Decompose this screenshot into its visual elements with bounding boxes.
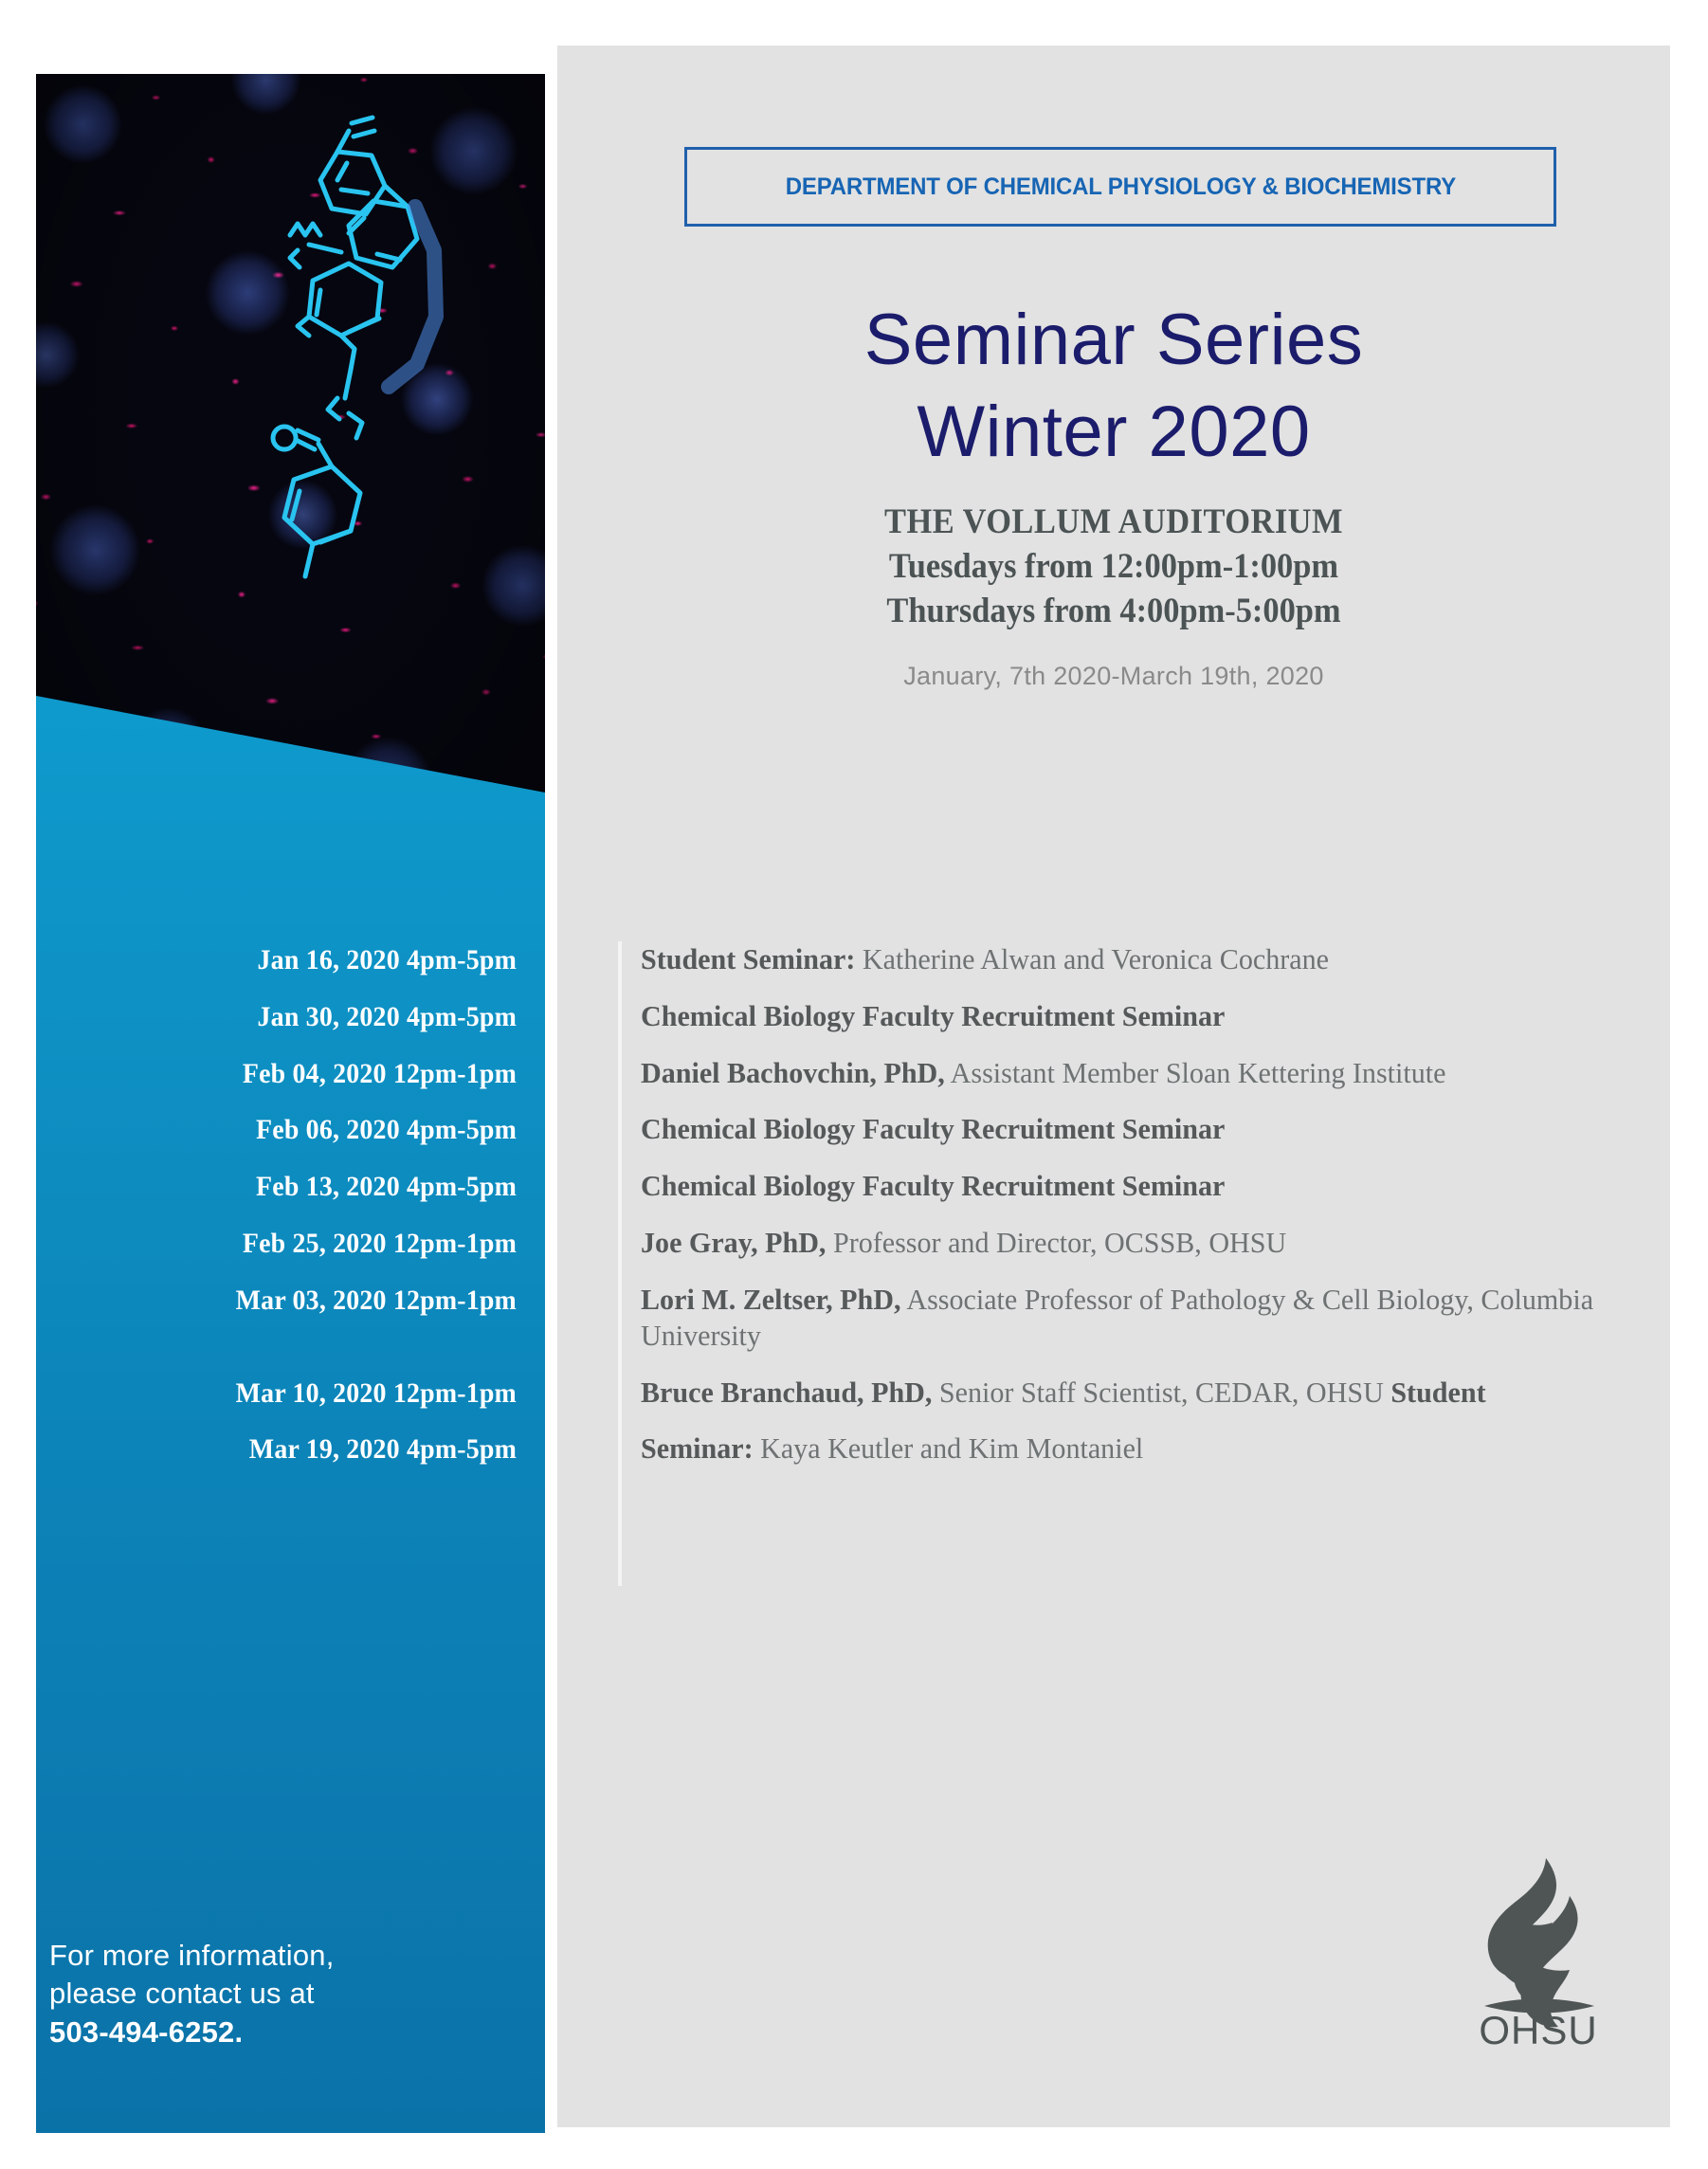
schedule-date: Feb 13, 2020 4pm-5pm bbox=[137, 1171, 517, 1203]
venue-time-thursdays: Thursdays from 4:00pm-5:00pm bbox=[596, 590, 1631, 634]
schedule-row: Student Seminar: Katherine Alwan and Ver… bbox=[557, 941, 1670, 977]
contact-line-1: For more information, bbox=[49, 1937, 485, 1975]
speaker-name: Student Seminar: bbox=[641, 942, 855, 975]
schedule-speaker: Student Seminar: Katherine Alwan and Ver… bbox=[641, 941, 1639, 977]
page-title: Seminar Series Winter 2020 bbox=[557, 294, 1670, 479]
schedule-speaker: Lori M. Zeltser, PhD, Associate Professo… bbox=[641, 1282, 1639, 1354]
speaker-name-tail: Student bbox=[1390, 1376, 1485, 1409]
speaker-name: Chemical Biology Faculty Recruitment Sem… bbox=[641, 1169, 1225, 1202]
schedule-row: Daniel Bachovchin, PhD, Assistant Member… bbox=[557, 1055, 1670, 1091]
chemical-structure-overlay bbox=[36, 74, 545, 813]
speaker-affiliation: Katherine Alwan and Veronica Cochrane bbox=[855, 942, 1329, 975]
speaker-name: Chemical Biology Faculty Recruitment Sem… bbox=[641, 999, 1225, 1032]
schedule-speaker: Chemical Biology Faculty Recruitment Sem… bbox=[641, 1168, 1639, 1204]
contact-phone[interactable]: 503-494-6252. bbox=[49, 2014, 485, 2051]
venue-info: THE VOLLUM AUDITORIUM Tuesdays from 12:0… bbox=[596, 501, 1631, 634]
speaker-name: Bruce Branchaud, PhD, bbox=[641, 1376, 932, 1409]
speaker-name: Lori M. Zeltser, PhD, bbox=[641, 1283, 900, 1316]
micrograph-image bbox=[36, 74, 545, 813]
schedule-row: Lori M. Zeltser, PhD, Associate Professo… bbox=[557, 1282, 1670, 1354]
schedule-row: Joe Gray, PhD, Professor and Director, O… bbox=[557, 1225, 1670, 1261]
schedule-speaker: Chemical Biology Faculty Recruitment Sem… bbox=[641, 1111, 1639, 1147]
speaker-affiliation: Professor and Director, OCSSB, OHSU bbox=[826, 1226, 1286, 1259]
schedule-speaker: Bruce Branchaud, PhD, Senior Staff Scien… bbox=[641, 1375, 1639, 1411]
department-name: DEPARTMENT OF CHEMICAL PHYSIOLOGY & BIOC… bbox=[785, 173, 1455, 201]
venue-name: THE VOLLUM AUDITORIUM bbox=[596, 501, 1631, 545]
content-panel: DEPARTMENT OF CHEMICAL PHYSIOLOGY & BIOC… bbox=[557, 46, 1670, 2127]
title-line-1: Seminar Series bbox=[557, 294, 1670, 386]
schedule-speaker: Daniel Bachovchin, PhD, Assistant Member… bbox=[641, 1055, 1639, 1091]
speaker-name: Chemical Biology Faculty Recruitment Sem… bbox=[641, 1112, 1225, 1145]
schedule-row: Bruce Branchaud, PhD, Senior Staff Scien… bbox=[557, 1375, 1670, 1411]
speaker-name: Seminar: bbox=[641, 1431, 754, 1465]
speaker-affiliation: Assistant Member Sloan Kettering Institu… bbox=[945, 1056, 1446, 1089]
schedule-date: Jan 16, 2020 4pm-5pm bbox=[137, 944, 517, 976]
schedule-date: Mar 10, 2020 12pm-1pm bbox=[137, 1377, 517, 1410]
contact-line-2: please contact us at bbox=[49, 1975, 485, 2013]
schedule-date: Mar 19, 2020 4pm-5pm bbox=[137, 1433, 517, 1466]
venue-time-tuesdays: Tuesdays from 12:00pm-1:00pm bbox=[596, 545, 1631, 590]
schedule-speaker: Joe Gray, PhD, Professor and Director, O… bbox=[641, 1225, 1639, 1261]
poster-page: For more information, please contact us … bbox=[0, 0, 1708, 2169]
schedule-date: Feb 25, 2020 12pm-1pm bbox=[137, 1228, 517, 1260]
schedule-row: Chemical Biology Faculty Recruitment Sem… bbox=[557, 1168, 1670, 1204]
schedule-date: Jan 30, 2020 4pm-5pm bbox=[137, 1001, 517, 1033]
ohsu-flame-icon: OHSU bbox=[1448, 1845, 1628, 2049]
schedule-row: Seminar: Kaya Keutler and Kim Montaniel bbox=[557, 1431, 1670, 1467]
ohsu-wordmark: OHSU bbox=[1479, 2008, 1597, 2049]
schedule-row: Chemical Biology Faculty Recruitment Sem… bbox=[557, 998, 1670, 1034]
schedule-speaker: Seminar: Kaya Keutler and Kim Montaniel bbox=[641, 1431, 1639, 1467]
schedule-date: Feb 06, 2020 4pm-5pm bbox=[137, 1114, 517, 1146]
speaker-affiliation: Senior Staff Scientist, CEDAR, OHSU bbox=[932, 1376, 1390, 1409]
schedule-speaker: Chemical Biology Faculty Recruitment Sem… bbox=[641, 998, 1639, 1034]
schedule-date: Feb 04, 2020 12pm-1pm bbox=[137, 1058, 517, 1090]
schedule-date: Mar 03, 2020 12pm-1pm bbox=[137, 1285, 517, 1317]
speaker-name: Daniel Bachovchin, PhD, bbox=[641, 1056, 945, 1089]
speaker-name: Joe Gray, PhD, bbox=[641, 1226, 826, 1259]
ohsu-logo: OHSU bbox=[1448, 1845, 1628, 2049]
schedule-row: Chemical Biology Faculty Recruitment Sem… bbox=[557, 1111, 1670, 1147]
left-column: For more information, please contact us … bbox=[36, 74, 545, 2133]
title-line-2: Winter 2020 bbox=[557, 386, 1670, 478]
department-header-box: DEPARTMENT OF CHEMICAL PHYSIOLOGY & BIOC… bbox=[684, 147, 1556, 227]
speaker-affiliation: Kaya Keutler and Kim Montaniel bbox=[754, 1431, 1144, 1465]
date-range: January, 7th 2020-March 19th, 2020 bbox=[557, 662, 1670, 691]
seminar-schedule: Student Seminar: Katherine Alwan and Ver… bbox=[557, 941, 1670, 1487]
contact-block: For more information, please contact us … bbox=[49, 1937, 485, 2051]
